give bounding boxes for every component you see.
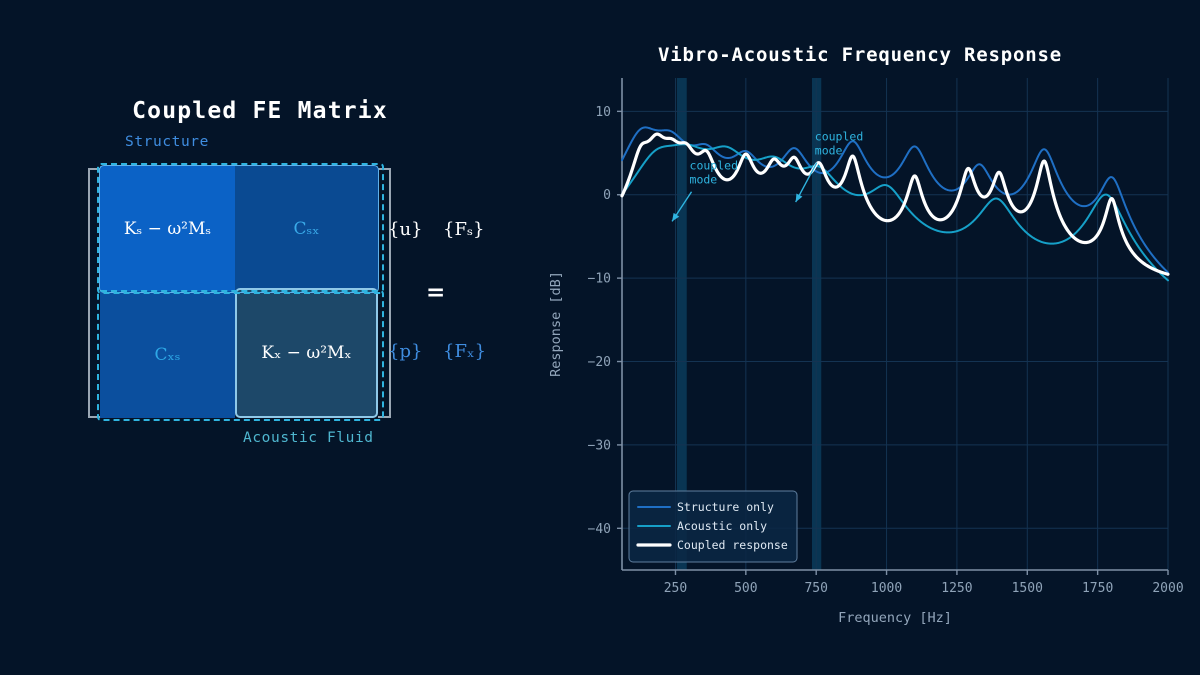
chart-legend[interactable]: Structure onlyAcoustic onlyCoupled respo… [629, 491, 797, 562]
vector-p: {p} [388, 341, 422, 362]
matrix-bracket-right [378, 168, 391, 418]
matrix-title: Coupled FE Matrix [0, 98, 520, 124]
x-tick-label: 1000 [871, 581, 902, 596]
equals-sign: = [426, 279, 445, 306]
x-tick-label: 2000 [1152, 581, 1183, 596]
y-tick-label: 0 [603, 188, 611, 203]
matrix-block-coupling-sf: Cₛₓ [235, 166, 378, 291]
x-tick-label: 750 [804, 581, 827, 596]
frequency-response-plot: 25050075010001250150017502000100−10−20−3… [520, 0, 1200, 675]
x-tick-label: 500 [734, 581, 757, 596]
data-curves-group [622, 127, 1168, 280]
x-tick-label: 1250 [941, 581, 972, 596]
matrix-block-ss-label: Kₛ − ω²Mₛ [124, 219, 211, 239]
structure-label: Structure [125, 134, 209, 150]
matrix-block-fs-label: Cₓₛ [155, 345, 181, 365]
matrix-block-coupling-fs: Cₓₛ [100, 291, 235, 418]
y-tick-label: −20 [588, 355, 611, 370]
frequency-response-chart-panel: Vibro-Acoustic Frequency Response 250500… [520, 0, 1200, 675]
coupled-fe-matrix-panel: Coupled FE Matrix Structure Acoustic Flu… [0, 0, 520, 675]
matrix-block-structure-stiffness: Kₛ − ω²Mₛ [100, 166, 235, 291]
matrix-block-fluid-stiffness: Kₓ − ω²Mₓ [235, 288, 378, 418]
y-tick-label: −40 [588, 522, 611, 537]
x-tick-label: 250 [664, 581, 687, 596]
legend-label[interactable]: Acoustic only [677, 519, 767, 533]
vector-fs: {Fₛ} [443, 219, 484, 240]
coupled-mode-annotation: coupledmode [690, 159, 738, 187]
x-tick-label: 1500 [1012, 581, 1043, 596]
matrix-block-ff-label: Kₓ − ω²Mₓ [261, 343, 351, 363]
vector-ff: {Fₓ} [443, 341, 486, 362]
y-tick-label: −30 [588, 438, 611, 453]
page-root: Coupled FE Matrix Structure Acoustic Flu… [0, 0, 1200, 675]
x-axis-title: Frequency [Hz] [838, 610, 952, 626]
x-tick-label: 1750 [1082, 581, 1113, 596]
coupled-mode-annotation: coupledmode [815, 130, 863, 158]
series-curve [622, 134, 1168, 274]
vector-u: {u} [388, 219, 423, 240]
y-axis-title: Response [dB] [548, 271, 564, 377]
legend-label[interactable]: Coupled response [677, 538, 788, 552]
y-tick-label: −10 [588, 272, 611, 287]
acoustic-fluid-label: Acoustic Fluid [243, 430, 374, 446]
matrix-block-sf-label: Cₛₓ [294, 219, 320, 239]
y-tick-label: 10 [595, 105, 611, 120]
legend-label[interactable]: Structure only [677, 500, 774, 514]
